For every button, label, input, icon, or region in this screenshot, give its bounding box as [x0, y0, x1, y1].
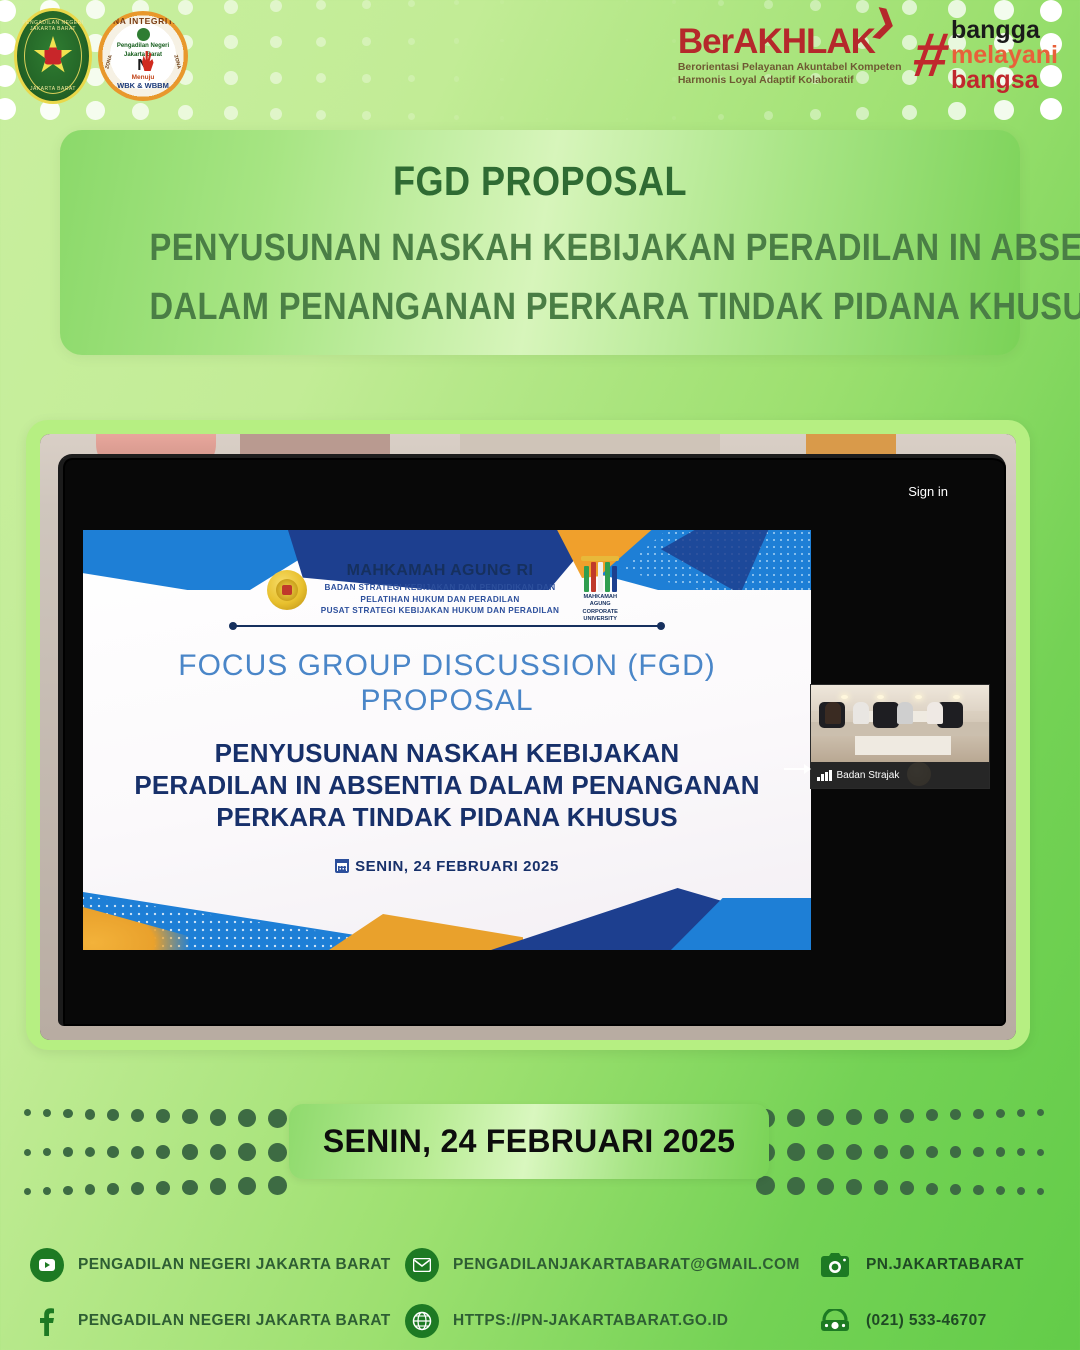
- footer-item-instagram[interactable]: PN.JAKARTABARAT: [818, 1248, 1024, 1282]
- dot-column: [926, 1109, 938, 1195]
- decor-dot: [1037, 1109, 1044, 1116]
- dot-column: [950, 1109, 961, 1195]
- decor-dot: [268, 1143, 287, 1162]
- slide-bottom-graphics: [83, 862, 811, 950]
- decor-dot: [926, 1183, 938, 1195]
- dot-column: [156, 1109, 170, 1195]
- decor-dot: [626, 79, 628, 81]
- decor-dot: [846, 1179, 862, 1195]
- event-photo-frame: Sign in MAHKAMAH AGUNG RI: [26, 420, 1030, 1050]
- tile-person-4: [927, 702, 943, 724]
- decor-dot: [856, 107, 869, 120]
- slide-org-text: MAHKAMAH AGUNG RI BADAN STRATEGI KEBIJAK…: [321, 562, 559, 618]
- footer-label-email: PENGADILANJAKARTABARAT@GMAIL.COM: [453, 1256, 800, 1274]
- decor-dot: [874, 1180, 889, 1195]
- footer-label-website: HTTPS://PN-JAKARTABARAT.GO.ID: [453, 1312, 728, 1330]
- decor-dot: [500, 78, 504, 82]
- decor-dot: [546, 0, 548, 2]
- zona-green-dot: [137, 28, 150, 41]
- instagram-icon: [818, 1248, 852, 1282]
- decor-dot: [224, 106, 238, 120]
- footer-label-facebook: PENGADILAN NEGERI JAKARTA BARAT: [78, 1312, 391, 1330]
- dot-column: [408, 0, 454, 120]
- seal-bottom-text: JAKARTA BARAT: [17, 86, 89, 92]
- dot-column: [626, 0, 672, 120]
- slide-title-line1: FOCUS GROUP DISCUSSION (FGD): [123, 648, 771, 683]
- bangga-word1: bangga: [951, 18, 1058, 43]
- headline-line3: DALAM PENANGANAN PERKARA TINDAK PIDANA K…: [150, 286, 931, 329]
- zona-left-text: ZONA: [104, 54, 113, 69]
- decor-dot: [948, 102, 966, 120]
- decor-dot: [454, 115, 459, 120]
- slide-org-sub2: PELATIHAN HUKUM DAN PERADILAN: [321, 594, 559, 606]
- decor-dot: [546, 79, 548, 81]
- dot-column: [63, 1109, 72, 1195]
- decor-dot: [182, 1109, 197, 1124]
- slide-subtitle-line2: PERADILAN IN ABSENTIA DALAM PENANGANAN: [123, 769, 771, 801]
- mahkamah-agung-emblem-icon: [267, 570, 307, 610]
- decor-dot: [973, 1147, 983, 1157]
- decor-dot: [270, 36, 282, 48]
- dot-column: [182, 1109, 197, 1195]
- decor-dot: [994, 100, 1014, 120]
- dot-column: [546, 0, 592, 120]
- decor-dot: [902, 105, 917, 120]
- decor-dot: [996, 1186, 1005, 1195]
- bangga-melayani-bangsa-logo: # bangga melayani bangsa: [914, 18, 1059, 93]
- decor-dot: [156, 1145, 170, 1159]
- decor-dot: [63, 1186, 72, 1195]
- decor-dot: [107, 1183, 119, 1195]
- participant-video-tile[interactable]: Badan Strajak: [810, 684, 990, 789]
- berakhlak-text: BerAKHLAK: [678, 22, 875, 61]
- slide-subtitle-line3: PERKARA TINDAK PIDANA KHUSUS: [123, 801, 771, 833]
- tile-chair-2: [873, 702, 899, 728]
- decor-dot: [316, 37, 326, 47]
- dot-column: [874, 1109, 889, 1195]
- dot-column: [85, 1109, 96, 1195]
- decor-dot: [1040, 98, 1062, 120]
- decor-dot: [500, 39, 504, 43]
- decor-dot: [787, 1177, 805, 1195]
- decor-dot: [948, 0, 966, 18]
- berakhlak-sub-line2: Harmonis Loyal Adaptif Kolaboratif: [678, 74, 902, 87]
- tile-lamp-1: [841, 695, 848, 699]
- decor-dot: [85, 1109, 96, 1120]
- decor-dot: [316, 110, 326, 120]
- decor-dot: [900, 1181, 914, 1195]
- emblem-inner: [276, 579, 298, 601]
- decor-dot: [268, 1176, 287, 1195]
- decor-dot: [107, 1109, 119, 1121]
- decor-dot: [626, 118, 628, 120]
- decor-dot: [362, 0, 371, 9]
- decor-dot: [1017, 1109, 1025, 1117]
- berakhlak-chevron-icon: ❯: [870, 9, 890, 34]
- slide-subtitle: PENYUSUNAN NASKAH KEBIJAKAN PERADILAN IN…: [123, 737, 771, 834]
- tile-lamp-4: [953, 695, 960, 699]
- bottom-right-dot-pattern: [756, 1104, 1056, 1200]
- decor-dot: [672, 77, 676, 81]
- cu-bar-4: [605, 562, 610, 592]
- decor-dot: [362, 74, 371, 83]
- decor-dot: [973, 1109, 983, 1119]
- tile-name-bar: Badan Strajak: [811, 762, 989, 788]
- decor-dot: [182, 1180, 197, 1195]
- decor-dot: [756, 1176, 775, 1195]
- dot-column: [210, 1109, 227, 1195]
- slide-header: MAHKAMAH AGUNG RI BADAN STRATEGI KEBIJAK…: [83, 556, 811, 623]
- decor-dot: [362, 111, 371, 120]
- berakhlak-logo: BerAKHLAK❯ Berorientasi Pelayanan Akunta…: [678, 24, 902, 87]
- berakhlak-wordmark: BerAKHLAK❯: [678, 24, 875, 59]
- tile-lamp-3: [915, 695, 922, 699]
- zona-wbk: WBK & WBBM: [117, 81, 169, 90]
- decor-dot: [408, 113, 415, 120]
- slide-org-sub: BADAN STRATEGI KEBIJAKAN DAN PENDIDIKAN …: [321, 582, 559, 618]
- dot-column: [224, 0, 270, 120]
- decor-dot: [950, 1109, 961, 1120]
- decor-dot: [178, 105, 193, 120]
- footer-item-youtube[interactable]: PENGADILAN NEGERI JAKARTA BARAT: [30, 1248, 391, 1282]
- dot-column: [900, 1109, 914, 1195]
- decor-dot: [926, 1146, 938, 1158]
- decor-dot: [43, 1148, 51, 1156]
- decor-dot: [86, 101, 105, 120]
- decor-dot: [817, 1109, 834, 1126]
- bangga-word3: bangsa: [951, 68, 1058, 93]
- dot-column: [268, 1109, 287, 1195]
- decor-dot: [63, 1109, 72, 1118]
- footer-label-youtube: PENGADILAN NEGERI JAKARTA BARAT: [78, 1256, 391, 1274]
- dot-column: [131, 1109, 144, 1195]
- decor-dot: [546, 118, 548, 120]
- decor-dot: [810, 0, 821, 11]
- decor-dot: [454, 0, 459, 5]
- dot-column: [973, 1109, 983, 1195]
- decor-dot: [238, 1109, 256, 1127]
- decor-dot: [900, 1109, 914, 1123]
- pointer-arrow-icon: [784, 768, 810, 770]
- dot-column: [238, 1109, 256, 1195]
- footer: PENGADILAN NEGERI JAKARTA BARAT PENGADIL…: [0, 1232, 1080, 1350]
- headline-panel: FGD PROPOSAL PENYUSUNAN NASKAH KEBIJAKAN…: [60, 130, 1020, 355]
- corporate-university-logo-icon: MAHKAMAH AGUNG CORPORATE UNIVERSITY: [573, 556, 627, 623]
- decor-dot: [626, 39, 628, 41]
- decor-dot: [454, 76, 459, 81]
- decor-dot: [270, 108, 282, 120]
- dot-column: [270, 0, 316, 120]
- decor-dot: [238, 1143, 256, 1161]
- berakhlak-subtitle: Berorientasi Pelayanan Akuntabel Kompete…: [678, 61, 902, 87]
- header-right-logos: BerAKHLAK❯ Berorientasi Pelayanan Akunta…: [678, 18, 1058, 93]
- bangga-word2: melayani: [951, 43, 1058, 68]
- decor-dot: [1037, 1149, 1044, 1156]
- cu-logo-bars: [573, 562, 627, 592]
- cu-logo-cap: [581, 556, 619, 561]
- cu-logo-text: MAHKAMAH AGUNG CORPORATE UNIVERSITY: [573, 594, 627, 623]
- signal-strength-icon: [817, 770, 832, 781]
- decor-dot: [43, 1109, 51, 1117]
- footer-item-phone[interactable]: (021) 533-46707: [818, 1304, 987, 1338]
- decor-dot: [874, 1145, 889, 1160]
- tile-lamp-2: [877, 695, 884, 699]
- decor-dot: [85, 1147, 96, 1158]
- cu-bar-5: [612, 566, 617, 592]
- date-banner-text: SENIN, 24 FEBRUARI 2025: [323, 1123, 735, 1160]
- dot-column: [316, 0, 362, 120]
- presentation-slide: MAHKAMAH AGUNG RI BADAN STRATEGI KEBIJAK…: [83, 530, 811, 950]
- decor-dot: [817, 1144, 834, 1161]
- decor-dot: [24, 1109, 31, 1116]
- decor-dot: [316, 73, 326, 83]
- decor-dot: [718, 114, 724, 120]
- youtube-icon: [30, 1248, 64, 1282]
- decor-dot: [408, 75, 415, 82]
- header-left-logos: PENGADILAN NEGERI JAKARTA BARAT JAKARTA …: [14, 8, 188, 104]
- zona-integritas-badge-icon: ZONA INTEGRITAS ZONA ZONA Pengadilan Neg…: [98, 11, 188, 101]
- dot-column: [107, 1109, 119, 1195]
- slide-shape-orange-2: [323, 914, 523, 950]
- event-photo: Sign in MAHKAMAH AGUNG RI: [40, 434, 1016, 1040]
- headline-line2: PENYUSUNAN NASKAH KEBIJAKAN PERADILAN IN…: [150, 227, 931, 270]
- decor-dot: [131, 1109, 144, 1122]
- dot-column: [500, 0, 546, 120]
- berakhlak-sub-line1: Berorientasi Pelayanan Akuntabel Kompete…: [678, 61, 902, 74]
- phone-icon: [818, 1304, 852, 1338]
- tile-person-2: [853, 702, 869, 724]
- globe-icon: [405, 1304, 439, 1338]
- decor-dot: [950, 1184, 961, 1195]
- decor-dot: [131, 1146, 144, 1159]
- decor-dot: [874, 1109, 889, 1124]
- decor-dot: [846, 1109, 862, 1125]
- participant-name: Badan Strajak: [837, 770, 900, 781]
- decor-dot: [210, 1109, 227, 1126]
- footer-label-instagram: PN.JAKARTABARAT: [866, 1256, 1024, 1274]
- decor-dot: [1017, 1187, 1025, 1195]
- decor-dot: [454, 38, 459, 43]
- decor-dot: [810, 109, 821, 120]
- decor-dot: [132, 103, 149, 120]
- decor-dot: [270, 72, 282, 84]
- decor-dot: [764, 0, 773, 9]
- decor-dot: [107, 1146, 119, 1158]
- decor-dot: [224, 35, 238, 49]
- decor-dot: [270, 0, 282, 12]
- zona-menuju: Menuju: [132, 74, 155, 81]
- slide-main-title: FOCUS GROUP DISCUSSION (FGD) PROPOSAL: [123, 648, 771, 719]
- date-banner: SENIN, 24 FEBRUARI 2025: [289, 1104, 769, 1179]
- dot-column: [1017, 1109, 1025, 1195]
- decor-dot: [43, 1187, 51, 1195]
- tile-person-1: [825, 702, 841, 724]
- cu-logo-line2: CORPORATE UNIVERSITY: [573, 609, 627, 624]
- dot-column: [362, 0, 408, 120]
- decor-dot: [973, 1185, 983, 1195]
- footer-item-email[interactable]: PENGADILANJAKARTABARAT@GMAIL.COM: [405, 1248, 800, 1282]
- decor-dot: [500, 116, 504, 120]
- decor-dot: [817, 1178, 834, 1195]
- slide-subtitle-line1: PENYUSUNAN NASKAH KEBIJAKAN: [123, 737, 771, 769]
- dot-column: [1037, 1109, 1044, 1195]
- decor-dot: [950, 1146, 961, 1157]
- decor-dot: [764, 111, 773, 120]
- cu-bar-1: [584, 566, 589, 592]
- slide-title-line2: PROPOSAL: [123, 683, 771, 718]
- hashtag-icon: #: [910, 31, 951, 81]
- decor-dot: [63, 1147, 72, 1156]
- decor-dot: [672, 0, 676, 4]
- decor-dot: [926, 1109, 938, 1121]
- decor-dot: [546, 39, 548, 41]
- decor-dot: [24, 1188, 31, 1195]
- slide-org-title: MAHKAMAH AGUNG RI: [321, 562, 559, 580]
- decor-dot: [787, 1109, 805, 1127]
- decor-dot: [1037, 1188, 1044, 1195]
- decor-dot: [902, 0, 917, 15]
- dot-column: [846, 1109, 862, 1195]
- pn-jakarta-barat-seal-icon: PENGADILAN NEGERI JAKARTA BARAT JAKARTA …: [14, 8, 92, 104]
- decor-dot: [316, 0, 326, 10]
- decor-dot: [224, 0, 238, 14]
- slide-title-block: FOCUS GROUP DISCUSSION (FGD) PROPOSAL PE…: [123, 648, 771, 833]
- dot-column: [817, 1109, 834, 1195]
- email-icon: [405, 1248, 439, 1282]
- background-wall-panel: [460, 434, 720, 456]
- decor-dot: [996, 1109, 1005, 1118]
- tile-person-3: [897, 702, 913, 724]
- decor-dot: [672, 116, 676, 120]
- decor-dot: [156, 1109, 170, 1123]
- decor-dot: [1017, 1148, 1025, 1156]
- decor-dot: [210, 1178, 227, 1195]
- footer-item-facebook[interactable]: PENGADILAN NEGERI JAKARTA BARAT: [30, 1304, 391, 1338]
- footer-label-phone: (021) 533-46707: [866, 1312, 987, 1330]
- dot-column: [996, 1109, 1005, 1195]
- zona-right-text: ZONA: [172, 54, 181, 69]
- decor-dot: [787, 1143, 805, 1161]
- sign-in-label[interactable]: Sign in: [908, 484, 948, 499]
- decor-dot: [85, 1184, 96, 1195]
- decor-dot: [846, 1144, 862, 1160]
- decor-dot: [131, 1182, 144, 1195]
- bangga-words: bangga melayani bangsa: [951, 18, 1058, 93]
- decor-dot: [996, 1147, 1005, 1156]
- dot-column: [787, 1109, 805, 1195]
- cu-bar-3: [598, 562, 603, 592]
- display-monitor: Sign in MAHKAMAH AGUNG RI: [58, 454, 1006, 1026]
- decor-dot: [900, 1145, 914, 1159]
- footer-item-website[interactable]: HTTPS://PN-JAKARTABARAT.GO.ID: [405, 1304, 728, 1338]
- decor-dot: [268, 1109, 287, 1128]
- decor-dot: [626, 0, 628, 2]
- decor-dot: [408, 38, 415, 45]
- decor-dot: [408, 0, 415, 7]
- decor-dot: [238, 1177, 256, 1195]
- decor-dot: [210, 1144, 227, 1161]
- decor-dot: [718, 0, 724, 6]
- bottom-left-dot-pattern: [24, 1104, 299, 1200]
- decor-dot: [24, 1149, 31, 1156]
- dot-column: [24, 1109, 31, 1195]
- decor-dot: [224, 71, 238, 85]
- seal-top-text: PENGADILAN NEGERI JAKARTA BARAT: [17, 20, 89, 32]
- decor-dot: [182, 1144, 197, 1159]
- headline-line1: FGD PROPOSAL: [140, 158, 939, 205]
- decor-dot: [156, 1181, 170, 1195]
- tile-room-background: [811, 685, 989, 762]
- decor-dot: [856, 0, 869, 13]
- dot-column: [43, 1109, 51, 1195]
- decor-dot: [500, 0, 504, 4]
- cu-logo-line1: MAHKAMAH AGUNG: [573, 594, 627, 609]
- decor-dot: [672, 39, 676, 43]
- zona-title: ZONA INTEGRITAS: [98, 16, 188, 26]
- slide-org-sub1: BADAN STRATEGI KEBIJAKAN DAN PENDIDIKAN …: [321, 582, 559, 594]
- decor-dot: [362, 37, 371, 46]
- zona-line1: Pengadilan Negeri: [117, 43, 169, 50]
- slide-divider: [233, 625, 661, 627]
- slide-org-sub3: PUSAT STRATEGI KEBIJAKAN HUKUM DAN PERAD…: [321, 605, 559, 617]
- facebook-icon: [30, 1304, 64, 1338]
- dot-column: [454, 0, 500, 120]
- cu-bar-2: [591, 562, 596, 592]
